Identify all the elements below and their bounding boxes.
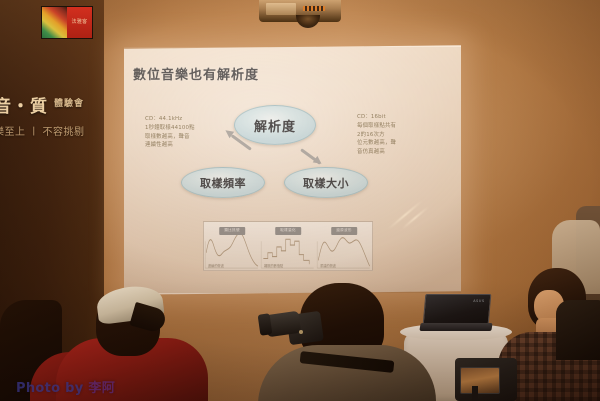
- projector-grill: [266, 3, 296, 15]
- poster-red-panel: 法雅客: [67, 7, 92, 38]
- dslr-lens-marking: [299, 330, 303, 334]
- laptop-keyboard-base: [419, 323, 492, 331]
- laptop-brand-label: ASUS: [473, 299, 485, 303]
- event-banner: 音・質體驗會 樂至上 ㅣ 不容挑剔: [0, 98, 112, 138]
- camcorder-flip-screen: [460, 367, 500, 394]
- banner-main-text: 音・質體驗會: [0, 98, 112, 117]
- event-poster: 法雅客: [41, 6, 93, 39]
- screen-light-haze: [124, 47, 461, 293]
- laptop-screen: ASUS: [423, 294, 492, 325]
- poster-artwork: [42, 7, 67, 38]
- slide-content: 數位音樂也有解析度 CD：44.1kHz1秒鐘取樣44100點取樣數越高，聲音連…: [124, 47, 461, 293]
- banner-main-label: 音・質: [0, 97, 48, 117]
- projection-screen: 數位音樂也有解析度 CD：44.1kHz1秒鐘取樣44100點取樣數越高，聲音連…: [124, 45, 461, 295]
- watermark-name: 李阿: [88, 381, 115, 396]
- camera-lens-right: [556, 300, 600, 360]
- banner-sub-label: 體驗會: [54, 100, 84, 110]
- photo-watermark: Photo by 李阿: [16, 377, 115, 396]
- banner-tagline: 樂至上 ㅣ 不容挑剔: [0, 123, 112, 138]
- camcorder-tripod-arm: [472, 386, 478, 401]
- poster-label: 法雅客: [72, 20, 88, 25]
- projector-indicator-lights: [303, 6, 325, 11]
- watermark-prefix: Photo by: [16, 381, 88, 396]
- presentation-photo: 法雅客 音・質體驗會 樂至上 ㅣ 不容挑剔 數位音樂也有解析度 CD：44.1k…: [0, 0, 600, 401]
